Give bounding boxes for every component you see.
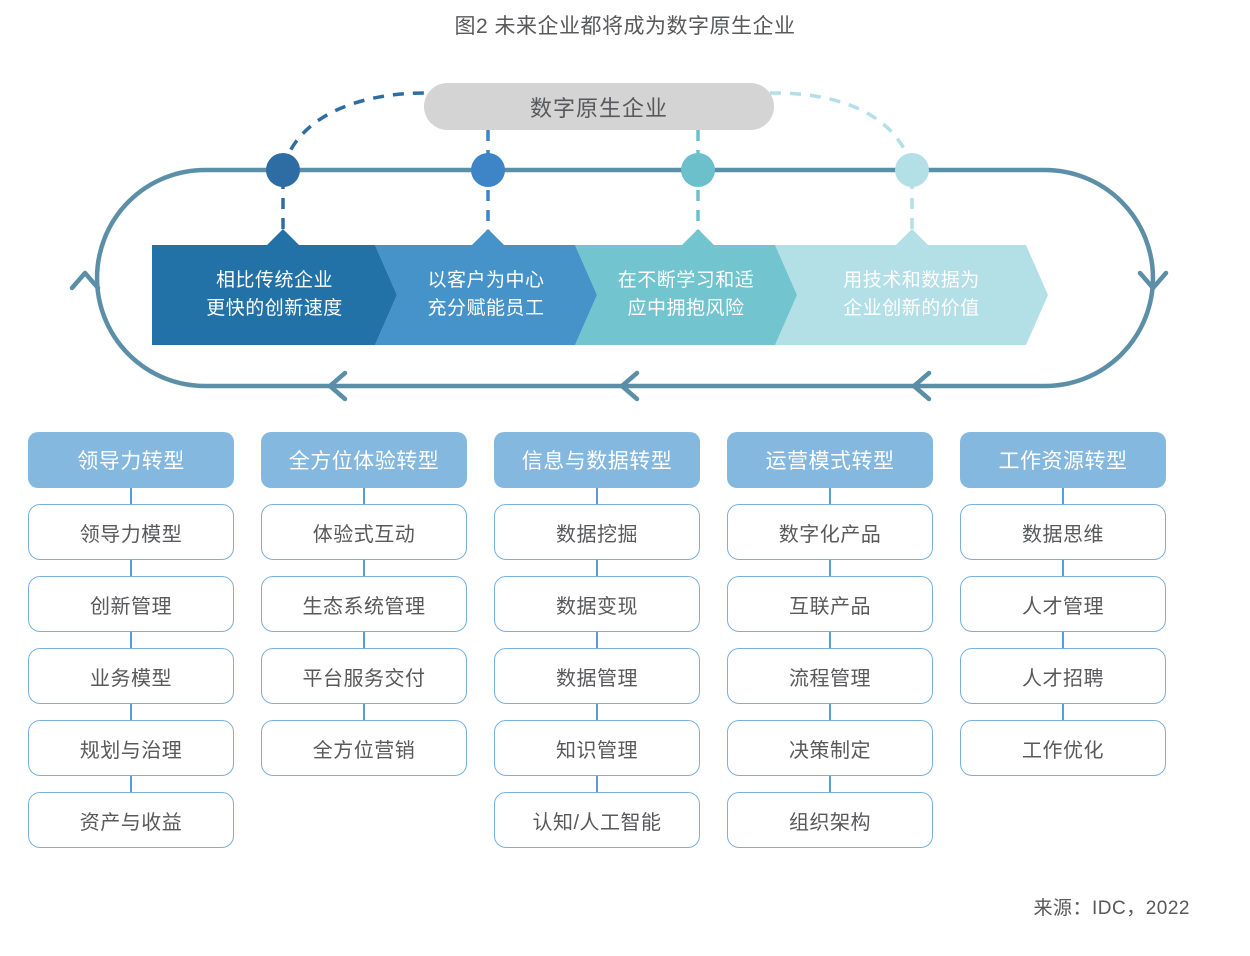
transformation-column-4: 运营模式转型数字化产品互联产品流程管理决策制定组织架构 (727, 432, 933, 848)
transformation-columns: 领导力转型领导力模型创新管理业务模型规划与治理资产与收益全方位体验转型体验式互动… (0, 432, 1250, 872)
arrowhead-up-left (72, 273, 98, 288)
source-note: 来源：IDC，2022 (1034, 893, 1191, 920)
notch-triangle-3 (681, 229, 715, 246)
stage-chevron-3: 在不断学习和适 应中拥抱风险 (575, 245, 797, 345)
cycle-diagram: 数字原生企业 相比传统企业 更快的创新速度以客户为中心 充分赋能员工在不断学习和… (0, 60, 1250, 425)
column-item[interactable]: 认知/人工智能 (494, 792, 700, 848)
column-connector (130, 560, 132, 576)
column-item[interactable]: 生态系统管理 (261, 576, 467, 632)
stage-chevron-band: 相比传统企业 更快的创新速度以客户为中心 充分赋能员工在不断学习和适 应中拥抱风… (152, 245, 1048, 345)
transformation-column-1: 领导力转型领导力模型创新管理业务模型规划与治理资产与收益 (28, 432, 234, 848)
column-item[interactable]: 领导力模型 (28, 504, 234, 560)
stage-chevron-1: 相比传统企业 更快的创新速度 (152, 245, 397, 345)
column-header[interactable]: 工作资源转型 (960, 432, 1166, 488)
column-connector (596, 776, 598, 792)
column-item[interactable]: 人才招聘 (960, 648, 1166, 704)
notch-triangle-1 (266, 229, 300, 246)
transformation-column-2: 全方位体验转型体验式互动生态系统管理平台服务交付全方位营销 (261, 432, 467, 776)
column-connector (1062, 560, 1064, 576)
column-connector (1062, 704, 1064, 720)
column-connector (130, 704, 132, 720)
column-connector (829, 776, 831, 792)
column-connector (1062, 632, 1064, 648)
page-title: 图2 未来企业都将成为数字原生企业 (0, 10, 1250, 40)
column-item[interactable]: 体验式互动 (261, 504, 467, 560)
stage-chevron-label: 在不断学习和适 应中拥抱风险 (618, 267, 755, 323)
stage-chevron-2: 以客户为中心 充分赋能员工 (375, 245, 597, 345)
stage-chevron-4: 用技术和数据为 企业创新的价值 (775, 245, 1048, 345)
marker-circle-3[interactable] (681, 153, 715, 187)
column-item[interactable]: 资产与收益 (28, 792, 234, 848)
column-item[interactable]: 决策制定 (727, 720, 933, 776)
column-connector (829, 488, 831, 504)
notch-triangle-2 (471, 229, 505, 246)
column-item[interactable]: 流程管理 (727, 648, 933, 704)
digital-native-badge-label: 数字原生企业 (530, 91, 668, 123)
marker-circle-2[interactable] (471, 153, 505, 187)
column-header[interactable]: 信息与数据转型 (494, 432, 700, 488)
column-item[interactable]: 组织架构 (727, 792, 933, 848)
column-item[interactable]: 人才管理 (960, 576, 1166, 632)
dashed-arc-right (770, 93, 912, 168)
transformation-column-3: 信息与数据转型数据挖掘数据变现数据管理知识管理认知/人工智能 (494, 432, 700, 848)
dashed-arc-left (283, 93, 430, 168)
column-item[interactable]: 规划与治理 (28, 720, 234, 776)
digital-native-badge: 数字原生企业 (424, 83, 774, 130)
column-item[interactable]: 数据变现 (494, 576, 700, 632)
column-connector (829, 560, 831, 576)
column-connector (363, 560, 365, 576)
marker-circle-4[interactable] (895, 153, 929, 187)
column-item[interactable]: 业务模型 (28, 648, 234, 704)
column-item[interactable]: 平台服务交付 (261, 648, 467, 704)
column-connector (130, 632, 132, 648)
marker-circle-1[interactable] (266, 153, 300, 187)
column-connector (829, 704, 831, 720)
notch-triangle-4 (895, 229, 929, 246)
column-connector (130, 488, 132, 504)
column-connector (596, 704, 598, 720)
column-connector (130, 776, 132, 792)
column-connector (596, 632, 598, 648)
column-connector (363, 632, 365, 648)
stage-chevron-label: 以客户为中心 充分赋能员工 (427, 267, 544, 323)
column-header[interactable]: 领导力转型 (28, 432, 234, 488)
column-header[interactable]: 运营模式转型 (727, 432, 933, 488)
column-item[interactable]: 数据挖掘 (494, 504, 700, 560)
transformation-column-5: 工作资源转型数据思维人才管理人才招聘工作优化 (960, 432, 1166, 776)
column-connector (596, 488, 598, 504)
column-connector (596, 560, 598, 576)
stage-chevron-label: 用技术和数据为 企业创新的价值 (843, 267, 980, 323)
column-item[interactable]: 互联产品 (727, 576, 933, 632)
column-item[interactable]: 创新管理 (28, 576, 234, 632)
column-item[interactable]: 数据思维 (960, 504, 1166, 560)
column-item[interactable]: 数据管理 (494, 648, 700, 704)
column-connector (1062, 488, 1064, 504)
column-connector (363, 704, 365, 720)
column-item[interactable]: 知识管理 (494, 720, 700, 776)
column-connector (363, 488, 365, 504)
column-connector (829, 632, 831, 648)
column-item[interactable]: 数字化产品 (727, 504, 933, 560)
column-item[interactable]: 全方位营销 (261, 720, 467, 776)
stage-chevron-label: 相比传统企业 更快的创新速度 (206, 267, 343, 323)
column-item[interactable]: 工作优化 (960, 720, 1166, 776)
column-header[interactable]: 全方位体验转型 (261, 432, 467, 488)
